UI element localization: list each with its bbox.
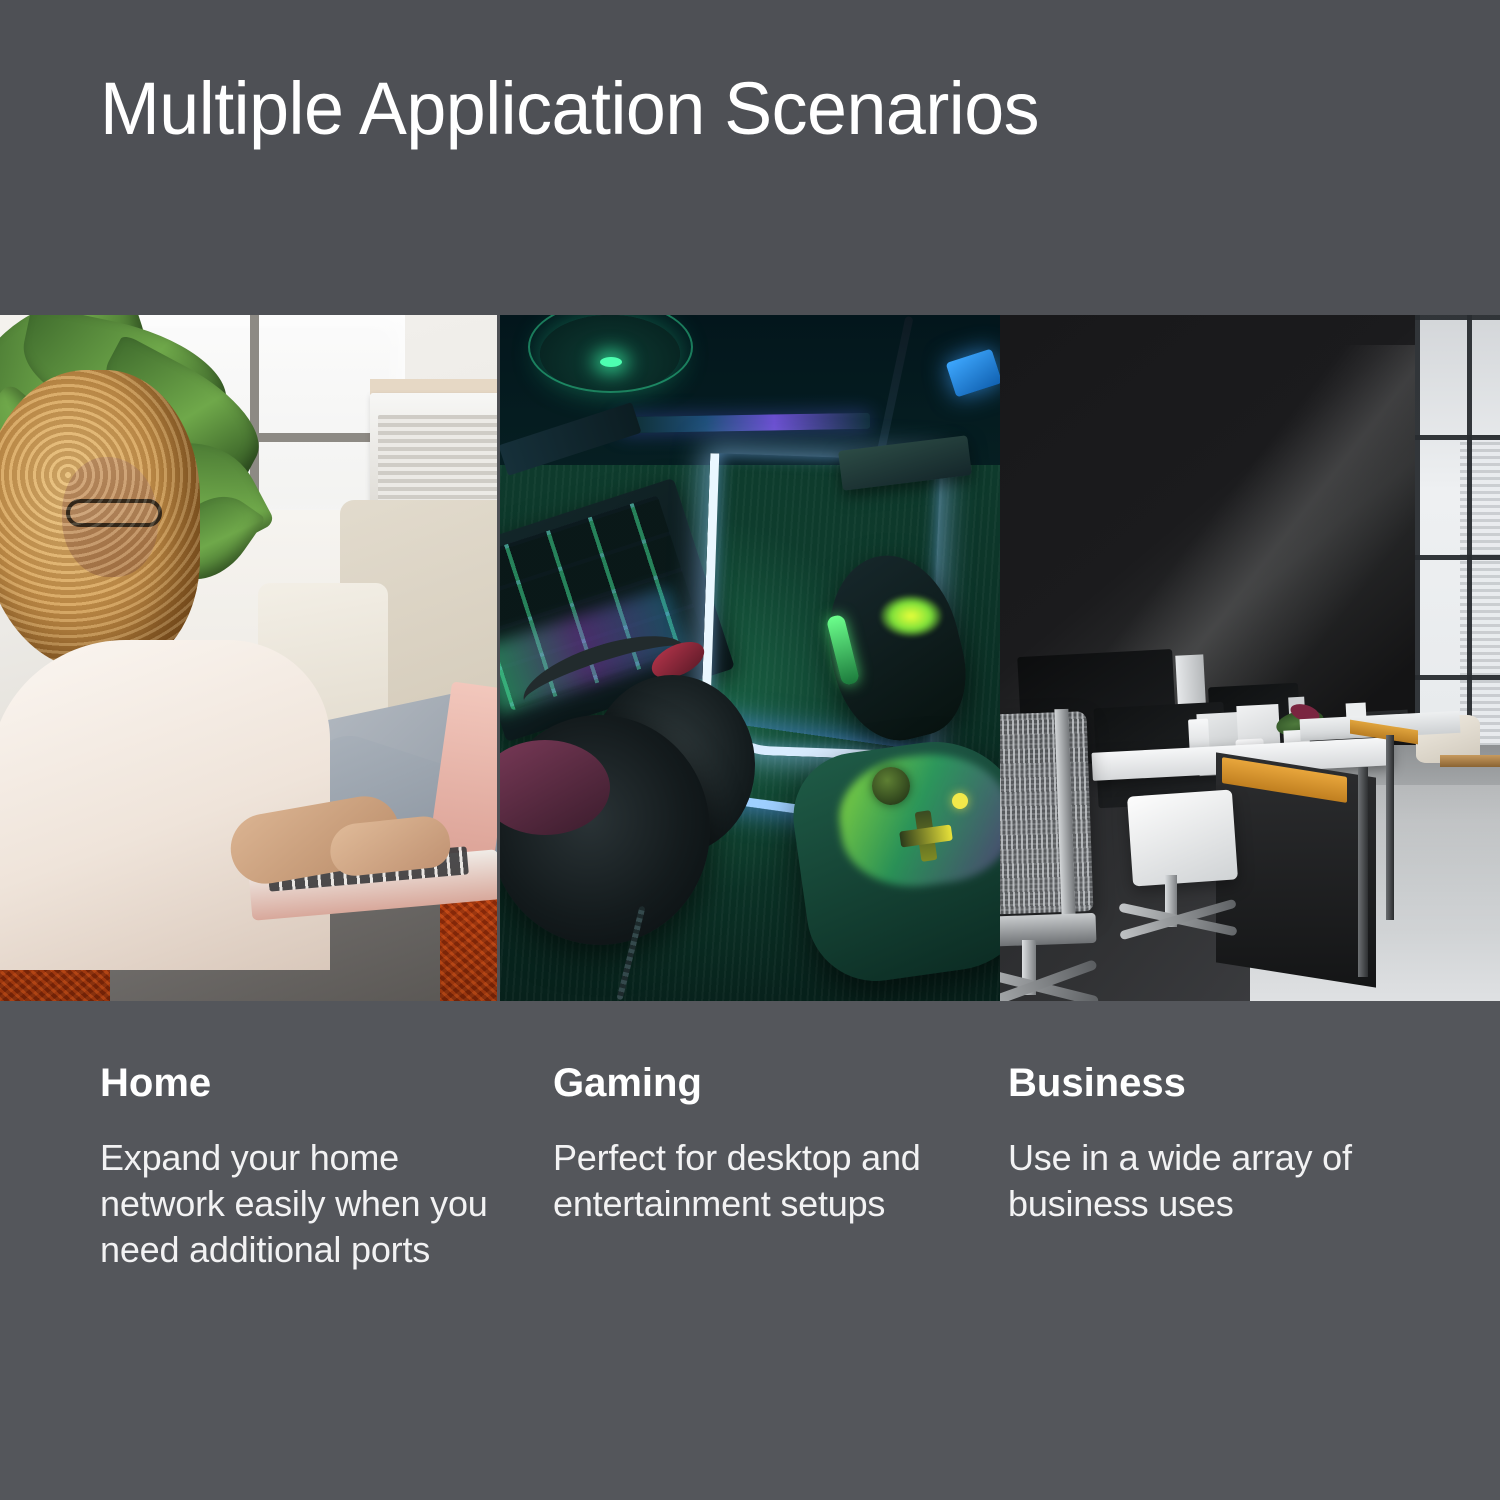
desk-leg-far	[1386, 735, 1394, 920]
office-window-frame-grid	[1415, 315, 1500, 755]
scenario-photo-business	[1000, 315, 1500, 1001]
controller-face-button	[952, 793, 968, 809]
scenario-caption-business: Business Use in a wide array of business…	[1008, 1061, 1408, 1227]
scenario-caption-gaming: Gaming Perfect for desktop and entertain…	[553, 1061, 953, 1227]
scenario-caption-band: Home Expand your home network easily whe…	[0, 1001, 1500, 1500]
home-ac-vent-grill	[378, 415, 497, 503]
scenario-body-gaming: Perfect for desktop and entertainment se…	[553, 1135, 953, 1227]
scenario-title-business: Business	[1008, 1061, 1408, 1105]
scenario-caption-home: Home Expand your home network easily whe…	[100, 1061, 500, 1273]
scenario-title-gaming: Gaming	[553, 1061, 953, 1105]
page-header: Multiple Application Scenarios	[0, 0, 1500, 315]
page-title: Multiple Application Scenarios	[100, 72, 1039, 146]
monitor-led-glow	[600, 357, 622, 367]
wooden-bench	[1440, 755, 1500, 767]
person-sweater	[0, 640, 330, 970]
scenario-body-business: Use in a wide array of business uses	[1008, 1135, 1408, 1227]
controller-thumbstick	[872, 767, 910, 805]
scenario-title-home: Home	[100, 1061, 500, 1105]
mouse-rgb-glow	[880, 595, 942, 637]
person-hair-texture	[0, 370, 200, 670]
desk-leg	[1358, 767, 1368, 977]
scenario-body-home: Expand your home network easily when you…	[100, 1135, 500, 1273]
scenario-photo-gaming	[500, 315, 1000, 1001]
mesh-chair-seat	[1000, 913, 1096, 947]
scenario-image-band	[0, 315, 1500, 1001]
mesh-office-chair-back	[1000, 711, 1093, 915]
scenario-photo-home	[0, 315, 497, 1001]
white-office-chair	[1127, 789, 1238, 886]
